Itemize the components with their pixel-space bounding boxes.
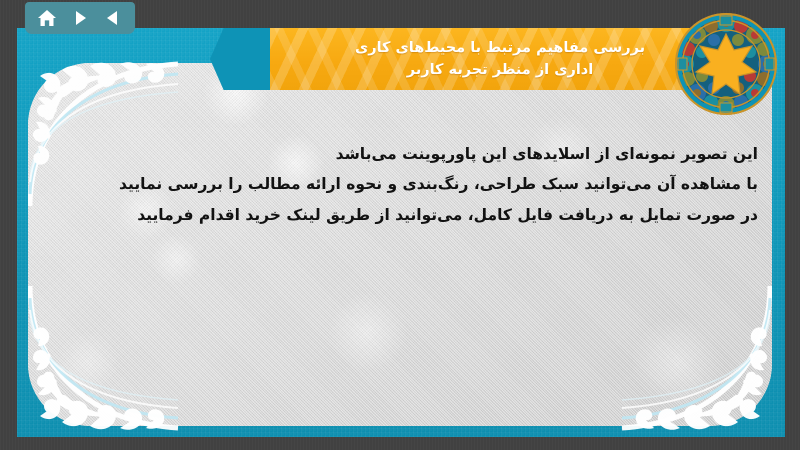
navigation-toolbar[interactable] (25, 2, 135, 34)
home-button[interactable] (34, 6, 60, 30)
page-title-line-2: اداری از منظر تجربه کاربر (355, 59, 645, 81)
triangle-left-icon (104, 9, 122, 27)
slide-content-panel: این تصویر نمونه‌ای از اسلایدهای این پاور… (28, 63, 772, 426)
page-title: بررسی مفاهیم مرتبط با محیط‌های کاری ادار… (343, 37, 657, 82)
persian-medallion-ornament (674, 12, 778, 116)
home-icon (37, 9, 57, 28)
page-title-line-1: بررسی مفاهیم مرتبط با محیط‌های کاری (355, 37, 645, 59)
forward-button[interactable] (67, 6, 93, 30)
body-line-1: این تصویر نمونه‌ای از اسلایدهای این پاور… (42, 143, 758, 166)
slide-body-text: این تصویر نمونه‌ای از اسلایدهای این پاور… (42, 143, 758, 234)
triangle-right-icon (71, 9, 89, 27)
body-line-2: با مشاهده آن می‌توانید سبک طراحی، رنگ‌بن… (42, 173, 758, 196)
body-line-3: در صورت تمایل به دریافت فایل کامل، می‌تو… (42, 204, 758, 227)
presentation-slide-frame: این تصویر نمونه‌ای از اسلایدهای این پاور… (0, 0, 800, 450)
back-button[interactable] (100, 6, 126, 30)
slide-title-banner: بررسی مفاهیم مرتبط با محیط‌های کاری ادار… (270, 28, 730, 90)
hatch-overlay-texture (28, 63, 772, 426)
